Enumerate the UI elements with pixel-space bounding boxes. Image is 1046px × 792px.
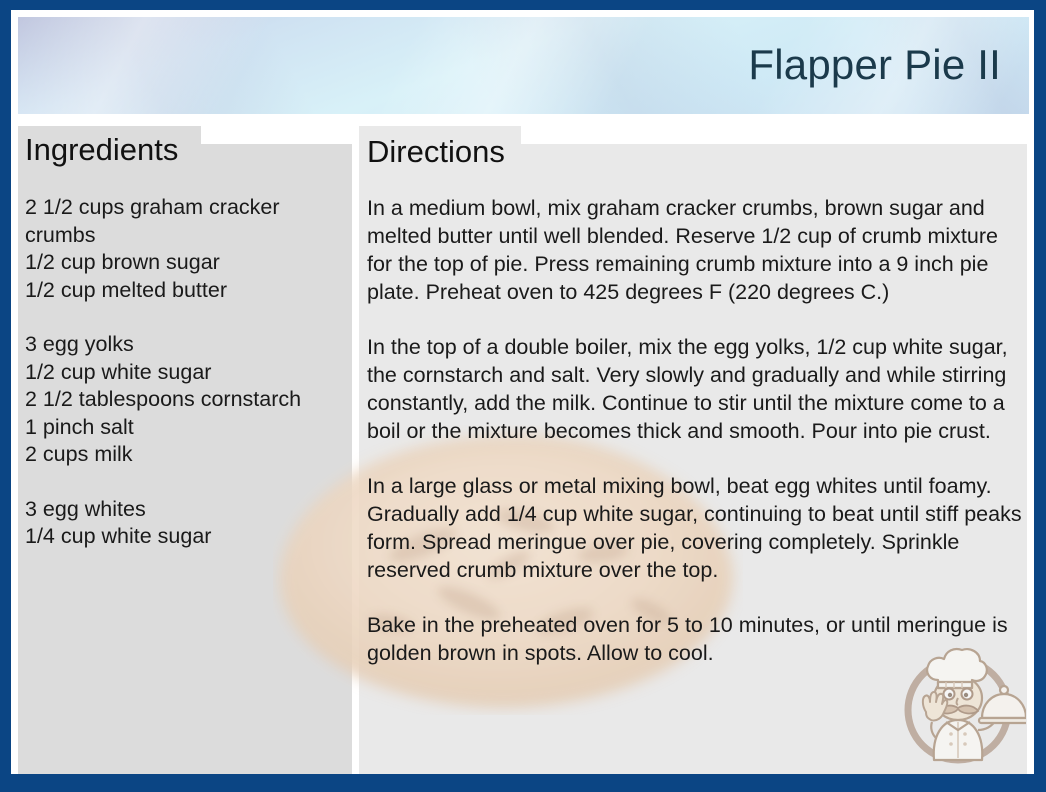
card-inner: Flapper Pie II <box>11 10 1034 774</box>
header-banner: Flapper Pie II <box>18 17 1029 114</box>
ingredient-item: 1/2 cup brown sugar <box>25 249 335 277</box>
directions-heading: Directions <box>367 136 505 167</box>
recipe-card: Flapper Pie II <box>0 0 1046 792</box>
direction-step: In the top of a double boiler, mix the e… <box>367 333 1027 445</box>
ingredient-item: 1/2 cup white sugar <box>25 359 335 387</box>
ingredient-group-spacer <box>25 469 335 496</box>
page-title: Flapper Pie II <box>748 44 1001 86</box>
ingredients-heading: Ingredients <box>25 134 178 165</box>
ingredient-item: 3 egg whites <box>25 496 335 524</box>
ingredient-item: 3 egg yolks <box>25 331 335 359</box>
ingredient-item: 1/2 cup melted butter <box>25 277 335 305</box>
ingredient-item: 1/4 cup white sugar <box>25 523 335 551</box>
directions-list: In a medium bowl, mix graham cracker cru… <box>367 194 1027 667</box>
direction-step: In a large glass or metal mixing bowl, b… <box>367 472 1027 584</box>
ingredients-list: 2 1/2 cups graham cracker crumbs1/2 cup … <box>25 194 335 551</box>
ingredient-item: 1 pinch salt <box>25 414 335 442</box>
ingredient-item: 2 cups milk <box>25 441 335 469</box>
ingredient-item: 2 1/2 cups graham cracker crumbs <box>25 194 335 249</box>
ingredient-item: 2 1/2 tablespoons cornstarch <box>25 386 335 414</box>
ingredient-group-spacer <box>25 304 335 331</box>
direction-step: In a medium bowl, mix graham cracker cru… <box>367 194 1027 306</box>
chef-mascot-logo <box>890 638 1026 770</box>
